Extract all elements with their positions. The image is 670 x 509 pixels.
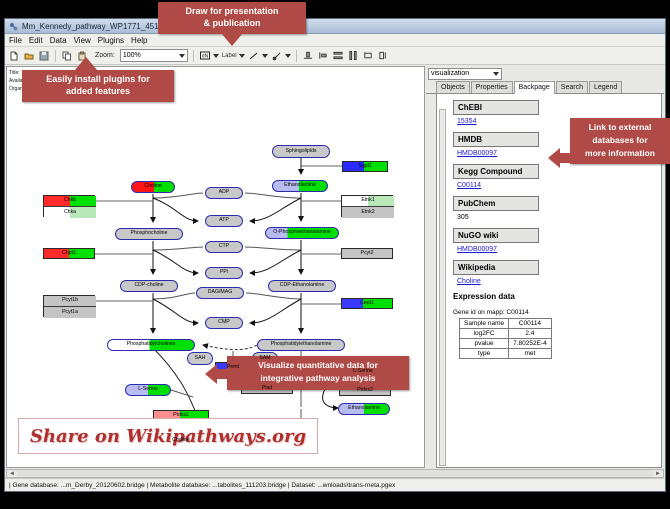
callout-visualize-stem [215, 369, 229, 379]
pathway-canvas[interactable]: Title: Availa Organi [6, 66, 425, 468]
node-label: L-Serine [353, 369, 373, 374]
gene-cept1[interactable]: Cept1 [342, 299, 392, 308]
callout-visualize-line2: integrative pathway analysis [233, 372, 403, 385]
node-label: ADP [219, 190, 230, 195]
menu-file[interactable]: File [9, 36, 22, 45]
gene-label: Pcyt1a [62, 310, 78, 315]
align-left-icon[interactable] [317, 50, 329, 62]
menu-bar: File Edit Data View Plugins Help [5, 34, 665, 47]
gene-group-chpt1: Chpt1 [43, 248, 95, 259]
expr-val-pvalue: 7.80252E-4 [509, 339, 552, 349]
gene-label: Ptdss1 [173, 413, 189, 418]
menu-help[interactable]: Help [131, 36, 147, 45]
db-value-pubchem: 305 [457, 214, 653, 221]
gene-label: Sgpl1 [358, 164, 371, 169]
gene-id-line: Gene id on mapp: C00114 [453, 309, 653, 316]
share-banner: Share on Wikipathways.org [18, 418, 318, 454]
chevron-down-icon [179, 54, 185, 58]
datanode-dropdown[interactable]: dN [199, 50, 219, 62]
gene-label: Pemt [227, 365, 239, 370]
db-link-nugo[interactable]: HMDB00097 [457, 246, 653, 253]
callout-links-stem [558, 153, 572, 163]
db-header-kegg: Kegg Compound [453, 164, 539, 179]
expr-val-type: met [509, 349, 552, 359]
node-ethanolamine-bottom[interactable]: Ethanolamine [338, 403, 390, 415]
node-label: Ethanolamine [348, 406, 380, 411]
chevron-down-icon [239, 54, 245, 58]
callout-links-line1: Link to external [576, 121, 664, 134]
distribute-vertical-icon[interactable] [332, 50, 344, 62]
datanode-icon[interactable]: dN [199, 50, 211, 62]
node-cmp[interactable]: CMP [205, 317, 243, 329]
expr-key-sample: Sample name [460, 319, 509, 329]
node-cdp-choline[interactable]: CDP-choline [120, 280, 178, 292]
zoom-combo[interactable]: 100% [120, 49, 188, 62]
status-text: | Gene database: ...m_Derby_20120602.bri… [9, 482, 395, 489]
chevron-down-icon [213, 54, 219, 58]
node-label: Choline [172, 438, 190, 443]
node-label: L-Serine [138, 387, 158, 392]
gene-chpt1[interactable]: Chpt1 [44, 249, 94, 258]
node-phosphatidylcholines[interactable]: Phosphatidylcholines [107, 339, 195, 351]
svg-text:dN: dN [202, 54, 209, 60]
node-sphingolipids[interactable]: Sphingolipids [272, 145, 330, 158]
gene-chka[interactable]: Chka [44, 207, 96, 218]
callout-visualize: Visualize quantitative data for integrat… [227, 356, 409, 390]
line-icon[interactable] [248, 50, 260, 62]
node-label: DAG/MAG [208, 290, 233, 295]
gene-etnk2[interactable]: Etnk2 [342, 207, 394, 218]
gene-etnk1[interactable]: Etnk1 [342, 196, 394, 207]
db-header-nugo: NuGO wiki [453, 228, 539, 243]
label-dropdown-text: Label [222, 53, 237, 59]
chevron-down-icon [493, 72, 499, 76]
gene-sgpl1[interactable]: Sgpl1 [343, 162, 387, 171]
line-dropdown[interactable] [248, 50, 268, 62]
node-phosphatidylethanolamine[interactable]: Phosphatidylethanolamine [257, 339, 345, 351]
gene-group-chk: Chkb Chka [43, 195, 95, 217]
node-ethanolamine-top[interactable]: Ethanolamine [272, 180, 328, 192]
expr-val-log2fc: 2.4 [509, 329, 552, 339]
expr-key-pvalue: pvalue [460, 339, 509, 349]
status-bar: | Gene database: ...m_Derby_20120602.bri… [5, 478, 665, 491]
expression-data-title: Expression data [453, 292, 653, 301]
pathway-drawing[interactable]: Title: Availa Organi [7, 67, 424, 467]
db-link-wikipedia[interactable]: Choline [457, 278, 653, 285]
visualization-value: visualization [431, 70, 469, 77]
table-row: type met [460, 349, 552, 359]
node-label: Phosphocholine [131, 231, 168, 236]
menu-plugins[interactable]: Plugins [98, 36, 124, 45]
main-area: Title: Availa Organi [5, 65, 665, 469]
node-label: CDP-choline [134, 283, 163, 288]
copy-icon[interactable] [61, 50, 73, 62]
node-label: Choline [144, 184, 162, 189]
label-dropdown[interactable]: Label [222, 53, 245, 59]
callout-draw: Draw for presentation & publication [158, 2, 306, 34]
db-header-wikipedia: Wikipedia [453, 260, 539, 275]
tab-properties[interactable]: Properties [471, 81, 513, 93]
callout-plugins-line2: added features [28, 85, 168, 97]
node-adp[interactable]: ADP [205, 187, 243, 199]
node-label: SAH [195, 356, 206, 361]
expr-key-log2fc: log2FC [460, 329, 509, 339]
anchor-icon[interactable] [271, 50, 283, 62]
db-header-hmdb: HMDB [453, 132, 539, 147]
zoom-label: Zoom: [95, 52, 115, 59]
callout-draw-line2: & publication [164, 17, 300, 29]
gene-label: Etnk2 [361, 210, 374, 215]
node-label: CDP-Ethanolamine [280, 283, 324, 288]
callout-plugins-line1: Easily install plugins for [28, 73, 168, 85]
scroll-left-icon[interactable]: ◄ [7, 471, 17, 477]
tab-objects[interactable]: Objects [436, 81, 470, 93]
expression-table: Sample name C00114 log2FC 2.4 pvalue 7.8… [459, 318, 552, 359]
node-dag-mag[interactable]: DAG/MAG [196, 287, 244, 299]
table-row: pvalue 7.80252E-4 [460, 339, 552, 349]
tab-search[interactable]: Search [556, 81, 588, 93]
gene-group-pcyt2: Pcyt2 [341, 248, 393, 259]
tab-legend[interactable]: Legend [589, 81, 622, 93]
gene-label: Chpt1 [62, 251, 76, 256]
callout-links-line3: more information [576, 147, 664, 160]
backpage-scrollbar[interactable] [439, 109, 446, 466]
node-label: Phosphatidylcholines [127, 342, 176, 347]
node-ppi[interactable]: PPi [205, 267, 243, 279]
callout-draw-line1: Draw for presentation [164, 5, 300, 17]
node-label: CMP [218, 320, 230, 325]
open-folder-icon[interactable] [23, 50, 35, 62]
visualization-combo[interactable]: visualization [428, 68, 502, 80]
db-header-chebi: ChEBI [453, 100, 539, 115]
node-o-phosphoethanolamine[interactable]: O-Phosphoethanolamine [265, 227, 339, 239]
anchor-dropdown[interactable] [271, 50, 291, 62]
callout-draw-arrow [221, 33, 243, 46]
title-bar: Mm_Kennedy_pathway_WP1771_45176.gpml [5, 19, 665, 34]
scroll-thumb[interactable] [17, 470, 653, 477]
node-label: Ethanolamine [284, 183, 316, 188]
callout-plugins: Easily install plugins for added feature… [22, 70, 174, 102]
gene-chkb[interactable]: Chkb [44, 196, 96, 207]
menu-view[interactable]: View [74, 36, 91, 45]
gene-label: Pcyt2 [361, 251, 374, 256]
gene-label: Pisd [262, 386, 272, 391]
align-top-icon[interactable] [302, 50, 314, 62]
table-row: log2FC 2.4 [460, 329, 552, 339]
toolbar-separator-3 [296, 50, 297, 62]
node-label: CTP [219, 244, 229, 249]
gene-label: Ptdss2 [357, 388, 373, 393]
toolbar: Zoom: 100% dN Label [5, 47, 665, 65]
gene-label: Chka [64, 210, 76, 215]
scroll-right-icon[interactable]: ► [653, 471, 663, 477]
node-l-serine-left[interactable]: L-Serine [125, 384, 171, 396]
callout-plugins-stem [79, 66, 93, 74]
ungroup-icon[interactable] [377, 50, 389, 62]
gene-label: Cept1 [360, 301, 374, 306]
callout-links: Link to external databases for more info… [570, 118, 670, 164]
toolbar-separator-1 [55, 50, 56, 62]
node-phosphocholine[interactable]: Phosphocholine [115, 228, 183, 240]
db-header-pubchem: PubChem [453, 196, 539, 211]
gene-label: Chkb [64, 198, 76, 203]
node-cdp-ethanolamine[interactable]: CDP-Ethanolamine [268, 280, 336, 292]
distribute-horizontal-icon[interactable] [347, 50, 359, 62]
menu-data[interactable]: Data [50, 36, 67, 45]
group-icon[interactable] [362, 50, 374, 62]
db-link-kegg[interactable]: C00114 [457, 182, 653, 189]
node-choline-top[interactable]: Choline [131, 181, 175, 193]
node-label: O-Phosphoethanolamine [273, 230, 330, 235]
gene-pcyt1b[interactable]: Pcyt1b [44, 296, 96, 307]
canvas-hscrollbar[interactable]: ◄ ► [6, 469, 664, 478]
callout-links-line2: databases for [576, 134, 664, 147]
gene-pcyt2[interactable]: Pcyt2 [342, 249, 392, 258]
gene-group-sgpl1: Sgpl1 [342, 161, 388, 172]
node-label: ATP [219, 218, 229, 223]
node-label: Phosphatidylethanolamine [271, 342, 332, 347]
gene-group-pcyt1: Pcyt1b Pcyt1a [43, 295, 95, 317]
chevron-down-icon [262, 54, 268, 58]
node-label: PPi [220, 270, 228, 275]
visualization-row: visualization [426, 66, 664, 81]
node-label: Sphingolipids [286, 149, 317, 154]
node-atp[interactable]: ATP [205, 215, 243, 227]
new-file-icon[interactable] [8, 50, 20, 62]
chevron-down-icon [285, 54, 291, 58]
gene-group-etnk: Etnk1 Etnk2 [341, 195, 393, 217]
node-label: SAM [259, 356, 270, 361]
tab-backpage[interactable]: Backpage [514, 81, 555, 94]
table-row: Sample name C00114 [460, 319, 552, 329]
gene-group-cept1: Cept1 [341, 298, 393, 309]
side-tab-bar: Objects Properties Backpage Search Legen… [426, 81, 664, 94]
save-icon[interactable] [38, 50, 50, 62]
expr-val-sample: C00114 [509, 319, 552, 329]
gene-label: Pcyt1b [62, 298, 78, 303]
pathvisio-icon [9, 22, 18, 31]
node-ctp[interactable]: CTP [205, 241, 243, 253]
zoom-value: 100% [123, 52, 141, 59]
menu-edit[interactable]: Edit [29, 36, 43, 45]
expr-key-type: type [460, 349, 509, 359]
toolbar-separator-2 [193, 50, 194, 62]
share-banner-text: Share on Wikipathways.org [30, 426, 306, 447]
gene-label: Etnk1 [361, 198, 374, 203]
gene-pcyt1a[interactable]: Pcyt1a [44, 307, 96, 318]
